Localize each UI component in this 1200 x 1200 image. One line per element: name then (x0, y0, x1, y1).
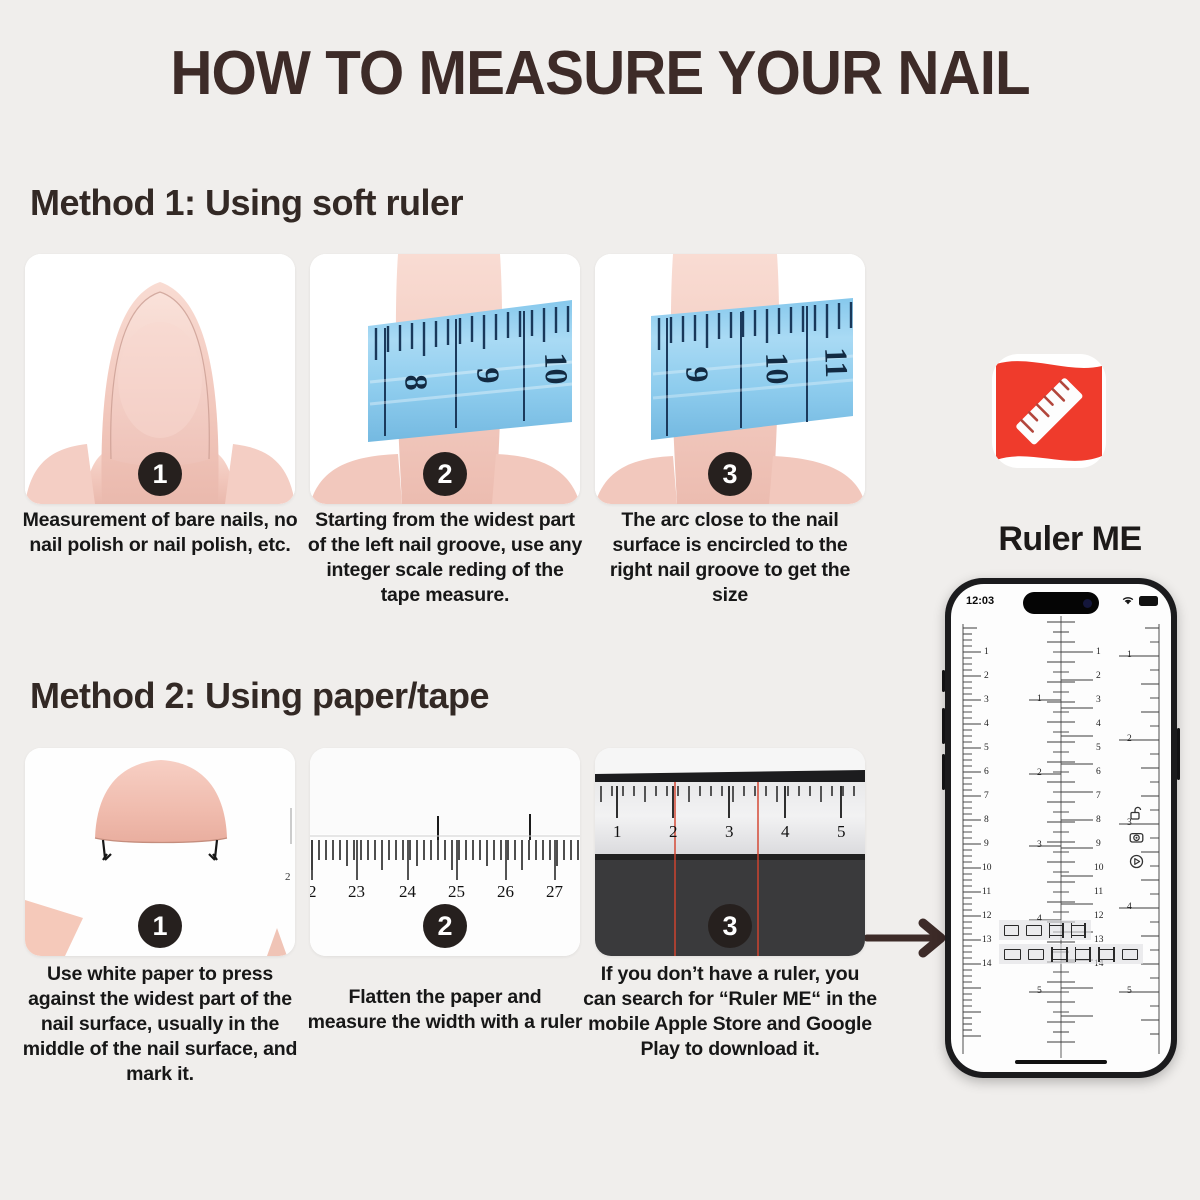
method-1-heading: Method 1: Using soft ruler (30, 182, 463, 224)
ruler-left-number: 6 (984, 767, 989, 777)
ruler-number: 2 (310, 882, 317, 902)
measure-chip[interactable] (1122, 949, 1139, 960)
ruler-number: 27 (546, 882, 563, 902)
ruler-left-number: 14 (982, 959, 992, 969)
ruler-left-number: 5 (984, 743, 989, 753)
power-button[interactable] (1177, 728, 1180, 780)
method-2-heading: Method 2: Using paper/tape (30, 675, 489, 717)
ruler-center-number: 9 (1096, 839, 1101, 849)
ruler-left-number: 13 (982, 935, 992, 945)
ruler-left-number: 11 (982, 887, 991, 897)
method-2-step-2-caption: Flatten the paper and measure the width … (307, 985, 583, 1035)
step-badge: 2 (423, 904, 467, 948)
method-2-step-2-card: 2 23 24 25 26 27 2 (310, 748, 580, 956)
ruler-center-number: 12 (1094, 911, 1104, 921)
ruler-left-number: 4 (984, 719, 989, 729)
tape-number: 11 (817, 347, 855, 379)
ruler-left-number: 3 (984, 695, 989, 705)
method-1-step-3-card: 9 10 11 3 (595, 254, 865, 504)
step-badge: 1 (138, 452, 182, 496)
measure-chip[interactable] (1075, 949, 1092, 960)
ruler-left-number: 1 (984, 647, 989, 657)
ruler-scales (951, 584, 1171, 1072)
home-indicator[interactable] (1015, 1060, 1107, 1064)
ruler-inch-number: 1 (1037, 694, 1042, 704)
ruler-inch-number: 2 (1037, 768, 1042, 778)
measure-chip[interactable] (1071, 925, 1086, 936)
method-1-step-2-caption: Starting from the widest part of the lef… (307, 508, 583, 608)
method-2-step-3-card: 1 2 3 4 5 3 (595, 748, 865, 956)
measure-widget-row-bottom[interactable] (999, 944, 1143, 964)
ruler-number: 1 (613, 822, 622, 842)
tape-number: 9 (469, 367, 507, 384)
ruler-left-number: 8 (984, 815, 989, 825)
dynamic-island (1023, 592, 1099, 614)
measure-chip[interactable] (1051, 949, 1068, 960)
step-badge: 3 (708, 904, 752, 948)
ruler-center-number: 7 (1096, 791, 1101, 801)
method-1-step-1-card: 1 (25, 254, 295, 504)
ruler-center-number: 2 (1096, 671, 1101, 681)
ruler-center-number: 6 (1096, 767, 1101, 777)
method-1-step-3-caption: The arc close to the nail surface is enc… (592, 508, 868, 608)
tape-number: 10 (758, 352, 796, 385)
tape-number: 9 (678, 366, 716, 383)
method-1-step-1-caption: Measurement of bare nails, no nail polis… (22, 508, 298, 558)
ruler-right-number: 4 (1127, 902, 1132, 912)
tape-number: 8 (397, 374, 435, 391)
method-1-step-2-card: 8 9 10 2 (310, 254, 580, 504)
ruler-left-number: 9 (984, 839, 989, 849)
ruler-left-number: 7 (984, 791, 989, 801)
ruler-center-number: 1 (1096, 647, 1101, 657)
ruler-number: 5 (837, 822, 846, 842)
measure-chip[interactable] (1026, 925, 1041, 936)
ruler-number: 2 (669, 822, 678, 842)
infographic-page: HOW TO MEASURE YOUR NAIL Method 1: Using… (0, 0, 1200, 1200)
measure-chip[interactable] (1028, 949, 1045, 960)
volume-up-button[interactable] (942, 708, 945, 744)
ruler-number: 23 (348, 882, 365, 902)
phone-mockup: 12:03 (945, 578, 1177, 1078)
ruler-center-number: 4 (1096, 719, 1101, 729)
tape-number: 10 (537, 352, 575, 385)
ruler-me-app-icon[interactable] (990, 352, 1108, 470)
ruler-number: 3 (725, 822, 734, 842)
measure-chip[interactable] (1049, 925, 1064, 936)
step-badge: 1 (138, 904, 182, 948)
wifi-icon (1121, 595, 1135, 606)
measure-chip[interactable] (1004, 925, 1019, 936)
ruler-left-number: 12 (982, 911, 992, 921)
ruler-left-number: 10 (982, 863, 992, 873)
ruler-left-number: 2 (984, 671, 989, 681)
ruler-inch-number: 5 (1037, 986, 1042, 996)
unlock-icon[interactable] (1129, 806, 1144, 821)
front-camera-icon (1083, 599, 1092, 608)
ruler-me-app-screen[interactable]: 12:03 (951, 584, 1171, 1072)
method-2-step-1-caption: Use white paper to press against the wid… (22, 962, 298, 1087)
camera-icon[interactable] (1129, 830, 1144, 845)
ruler-center-number: 3 (1096, 695, 1101, 705)
measure-chip[interactable] (1098, 949, 1115, 960)
measure-widget-row-top[interactable] (999, 920, 1091, 940)
ruler-center-number: 10 (1094, 863, 1104, 873)
measure-chip[interactable] (1004, 949, 1021, 960)
ruler-number: 24 (399, 882, 416, 902)
mute-switch[interactable] (942, 670, 945, 692)
page-title: HOW TO MEASURE YOUR NAIL (36, 38, 1164, 109)
ruler-number: 25 (448, 882, 465, 902)
method-2-step-1-card: 2 1 (25, 748, 295, 956)
step-badge: 2 (423, 452, 467, 496)
method-2-step-3-caption: If you don’t have a ruler, you can searc… (582, 962, 878, 1062)
play-icon[interactable] (1129, 854, 1144, 869)
ruler-right-number: 2 (1127, 734, 1132, 744)
ruler-center-number: 11 (1094, 887, 1103, 897)
ruler-right-number: 5 (1127, 986, 1132, 996)
status-bar-time: 12:03 (966, 595, 994, 607)
svg-text:2: 2 (285, 871, 291, 883)
ruler-inch-number: 3 (1037, 840, 1042, 850)
ruler-number: 26 (497, 882, 514, 902)
step-badge: 3 (708, 452, 752, 496)
app-name-label: Ruler ME (955, 520, 1185, 559)
ruler-number: 4 (781, 822, 790, 842)
ruler-right-number: 1 (1127, 650, 1132, 660)
status-bar-indicators (1121, 595, 1158, 606)
ruler-center-number: 5 (1096, 743, 1101, 753)
volume-down-button[interactable] (942, 754, 945, 790)
ruler-center-number: 8 (1096, 815, 1101, 825)
battery-icon (1139, 596, 1158, 606)
